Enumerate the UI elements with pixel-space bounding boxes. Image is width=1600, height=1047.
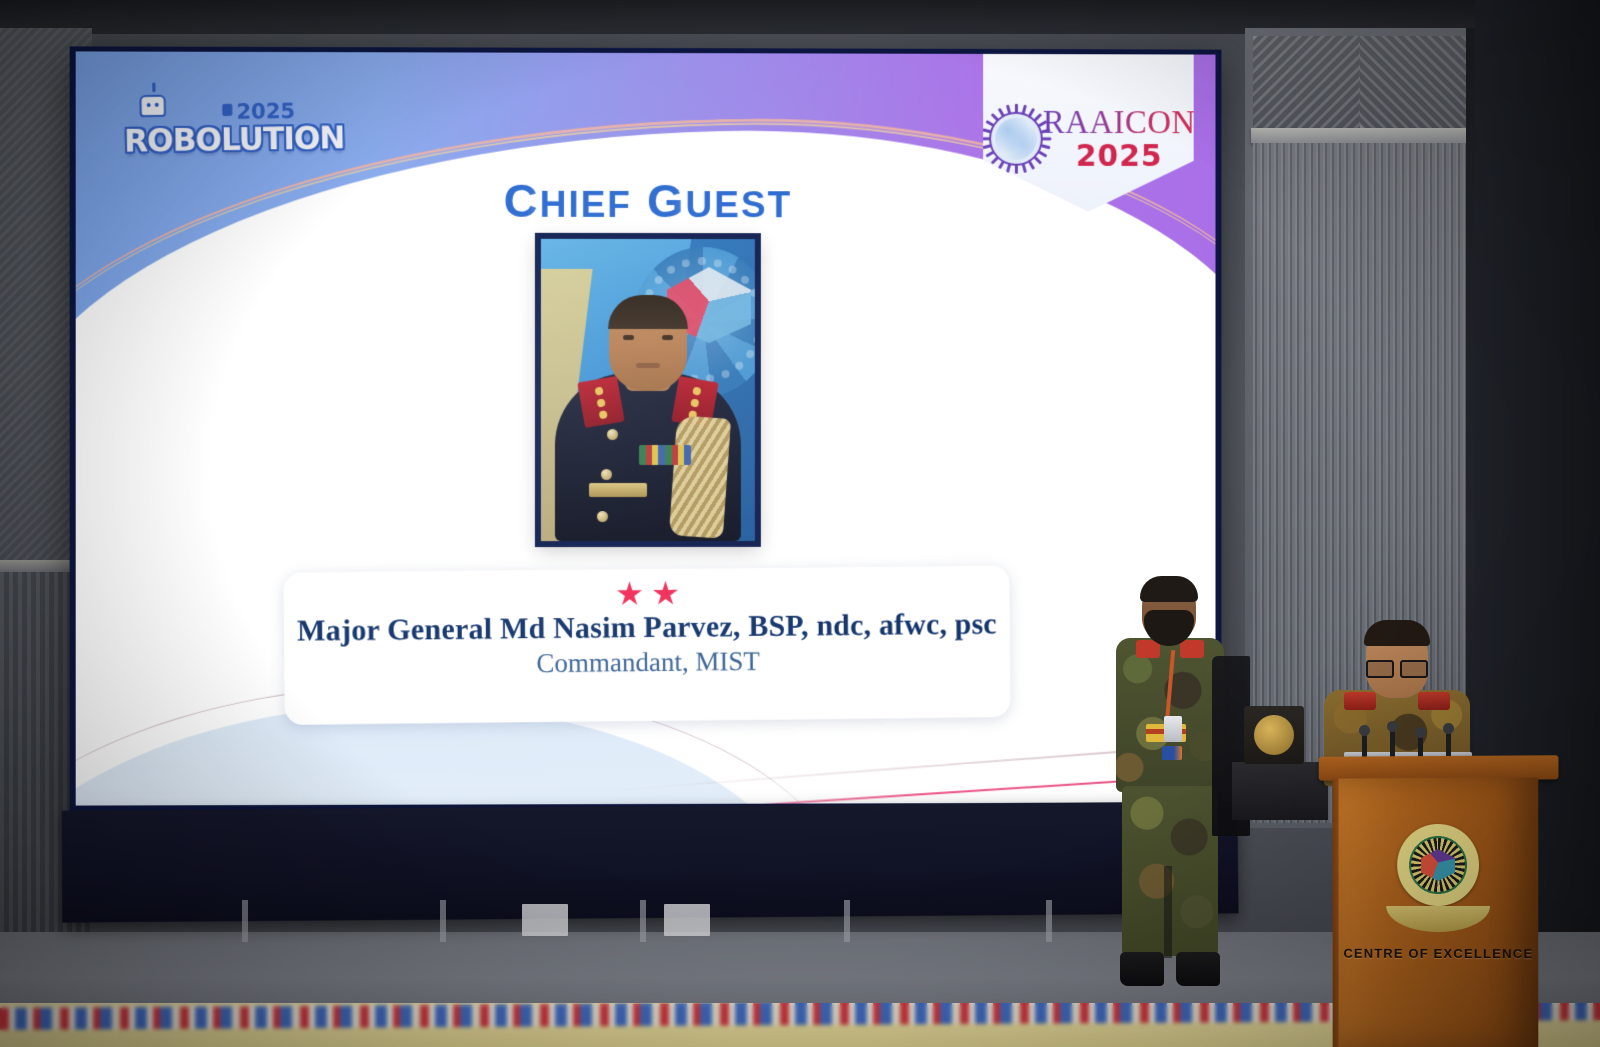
screenshot-root: ROBOLUTION 2025 RAAICON 2025 CHIE	[0, 0, 1600, 1047]
gear-tooth	[985, 150, 994, 157]
portrait-uniform	[555, 373, 741, 541]
speaker-epaulette-left	[1344, 692, 1376, 710]
raaicon-text-block: RAAICON 2025	[1043, 106, 1196, 171]
chief-guest-portrait	[537, 235, 759, 545]
gear-tooth	[1042, 137, 1051, 140]
gear-tooth	[1028, 161, 1035, 170]
gear-tooth	[1028, 108, 1035, 117]
robot-antenna-icon	[152, 83, 155, 92]
gear-tooth	[990, 113, 998, 121]
gear-tooth	[1041, 128, 1050, 133]
gear-tooth	[1006, 163, 1011, 172]
gear-tooth	[1038, 120, 1047, 127]
portrait-eye-right	[662, 335, 673, 340]
raaicon-name: RAAICON	[1043, 106, 1196, 139]
portrait-button	[597, 511, 608, 522]
chevron-wall-panel	[1253, 36, 1466, 128]
rank-stars	[616, 581, 678, 608]
officer-hair	[1140, 576, 1198, 602]
portrait-button	[601, 469, 612, 480]
shield-medallion	[1254, 715, 1294, 755]
portrait-nameplate	[589, 483, 647, 497]
portrait-medal-ribbons	[639, 445, 691, 465]
portrait-figure	[550, 309, 746, 541]
officer-boot-right	[1176, 952, 1220, 986]
gear-tooth	[985, 120, 994, 127]
crest-scroll	[1386, 906, 1490, 932]
display-shield	[1244, 706, 1304, 764]
mist-crest-icon	[1397, 824, 1479, 906]
gear-tooth	[1015, 165, 1018, 174]
gear-tooth	[1033, 156, 1041, 164]
speaker-hair	[1364, 620, 1430, 646]
gear-tooth	[990, 156, 998, 164]
gear-tooth	[997, 108, 1004, 117]
portrait-button	[607, 429, 618, 440]
slide-title: CHIEF GUEST	[76, 172, 1216, 229]
podium-inscription: CENTRE OF EXCELLENCE	[1343, 946, 1533, 961]
robot-head-icon	[139, 95, 166, 117]
officer-id-badge	[1164, 716, 1182, 742]
wall-rail	[1251, 128, 1468, 143]
slide-canvas: ROBOLUTION 2025 RAAICON 2025 CHIE	[76, 51, 1216, 805]
portrait-eye-left	[623, 335, 634, 340]
raaicon-year: 2025	[1076, 141, 1163, 171]
officer-boot-left	[1120, 952, 1164, 986]
robolution-year: 2025	[236, 99, 295, 124]
gear-tooth	[1021, 163, 1026, 172]
portrait-mouth	[636, 363, 660, 368]
guest-name: Major General Md Nasim Parvez, BSP, ndc,…	[297, 607, 997, 648]
gear-tooth	[1041, 144, 1050, 149]
glasses-icon	[1366, 660, 1428, 674]
officer-id-card	[1162, 746, 1182, 760]
robot-arm-icon	[181, 116, 240, 173]
officer-shoulder-tab-right	[1180, 640, 1204, 658]
podium: CENTRE OF EXCELLENCE	[1333, 755, 1545, 1047]
gear-tooth	[1015, 104, 1018, 113]
portrait-epaulette-left	[577, 376, 624, 428]
guest-name-card: Major General Md Nasim Parvez, BSP, ndc,…	[283, 565, 1010, 724]
side-table	[1232, 762, 1328, 820]
stage-supports	[62, 900, 1238, 946]
officer-leg-gap	[1164, 866, 1172, 958]
speaker-epaulette-right	[1418, 692, 1450, 710]
gear-globe-icon	[981, 104, 1051, 174]
podium-front-panel: CENTRE OF EXCELLENCE	[1339, 777, 1539, 1047]
star-icon	[616, 581, 642, 607]
robolution-logo: ROBOLUTION 2025	[123, 101, 315, 174]
star-icon	[652, 581, 678, 607]
globe-shading	[995, 118, 1037, 160]
guest-role: Commandant, MIST	[536, 646, 760, 679]
portrait-aiguillette	[669, 415, 731, 538]
gear-tooth	[1033, 113, 1041, 121]
projection-screen: ROBOLUTION 2025 RAAICON 2025 CHIE	[70, 46, 1222, 811]
portrait-image	[541, 239, 755, 541]
gear-tooth	[1038, 151, 1047, 158]
